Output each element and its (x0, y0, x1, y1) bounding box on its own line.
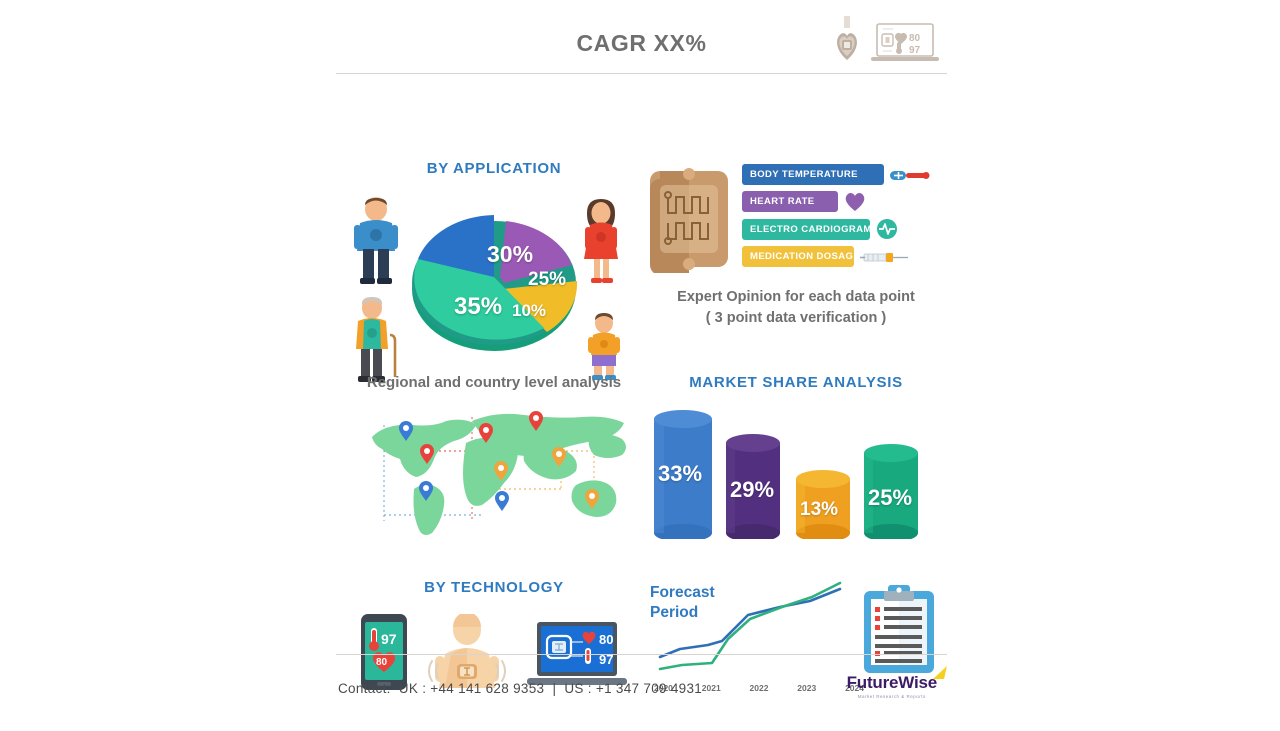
laptop-heart-value: 80 (909, 33, 921, 44)
footer: Contact: UK : +44 141 628 9353 | US : +1… (336, 654, 947, 722)
expert-opinion-line1: Expert Opinion for each data point (646, 287, 946, 308)
sensor-row-temperature: BODY TEMPERATURE (742, 164, 946, 185)
content-grid: BY APPLICATION (336, 74, 947, 654)
contact-line: Contact: UK : +44 141 628 9353 | US : +1… (338, 681, 702, 696)
thermometer-icon (890, 167, 930, 183)
infographic-page: CAGR XX% 80 97 (0, 0, 1280, 731)
logo-name: FutureWise (847, 673, 937, 692)
heart-icon (844, 192, 866, 212)
sensor-row-heart-rate: HEART RATE (742, 191, 946, 212)
contact-us: US : +1 347 709 4931 (564, 681, 702, 696)
sensor-label-medication-dosage: MEDICATION DOSAGE (742, 246, 854, 267)
laptop-display-heart-value: 80 (599, 632, 613, 647)
section-market-share: MARKET SHARE ANALYSIS (646, 374, 946, 584)
sensor-row-medication: MEDICATION DOSAGE (742, 246, 946, 267)
contact-separator: | (552, 681, 556, 696)
pie-chart-svg (394, 185, 594, 371)
phone-temp-value: 97 (381, 631, 397, 647)
header: CAGR XX% 80 97 (336, 8, 947, 74)
contact-label: Contact: (338, 681, 391, 696)
logo-tagline: Market Research & Reports (847, 694, 937, 699)
section-sensor-panel: BODY TEMPERATURE HEART RATE (646, 160, 946, 370)
section-by-application: BY APPLICATION (344, 160, 644, 380)
biosensor-chip-icon (646, 165, 732, 273)
regional-analysis-title: Regional and country level analysis (344, 374, 644, 393)
market-share-bar-chart: 33% 29% 13% 25% (646, 403, 946, 543)
sensor-label-body-temperature: BODY TEMPERATURE (742, 164, 884, 185)
world-map-svg (354, 403, 634, 543)
by-technology-title: BY TECHNOLOGY (344, 579, 644, 596)
laptop-vitals-icon: 80 97 (871, 22, 939, 64)
expert-opinion-line2: ( 3 point data verification ) (646, 308, 946, 329)
bar-label-4: 25% (868, 485, 912, 511)
contact-uk: UK : +44 141 628 9353 (399, 681, 545, 696)
laptop-temp-value: 97 (909, 45, 921, 56)
bar-label-3: 13% (800, 499, 838, 521)
section-regional-analysis: Regional and country level analysis (344, 374, 644, 584)
bar-label-1: 33% (658, 461, 702, 487)
infographic-sheet: CAGR XX% 80 97 (336, 8, 947, 723)
sensor-label-heart-rate: HEART RATE (742, 191, 838, 212)
pie-chart: 30% 25% 10% 35% (344, 181, 644, 371)
futurewise-logo[interactable]: FutureWise Market Research & Reports (847, 673, 937, 699)
logo-swoosh-icon (932, 666, 948, 682)
sensor-row-ecg: ELECTRO CARDIOGRAM (742, 218, 946, 240)
heart-badge-icon (833, 16, 861, 64)
forecast-series-blue (660, 589, 840, 657)
by-application-title: BY APPLICATION (344, 160, 644, 177)
world-map (344, 403, 644, 543)
expert-opinion-text: Expert Opinion for each data point ( 3 p… (646, 287, 946, 329)
ecg-pulse-icon (876, 218, 898, 240)
header-icon-group: 80 97 (833, 16, 939, 64)
bar-label-2: 29% (730, 477, 774, 503)
sensor-label-electro-cardiogram: ELECTRO CARDIOGRAM (742, 219, 870, 240)
syringe-icon (860, 249, 910, 265)
market-share-title: MARKET SHARE ANALYSIS (646, 374, 946, 391)
